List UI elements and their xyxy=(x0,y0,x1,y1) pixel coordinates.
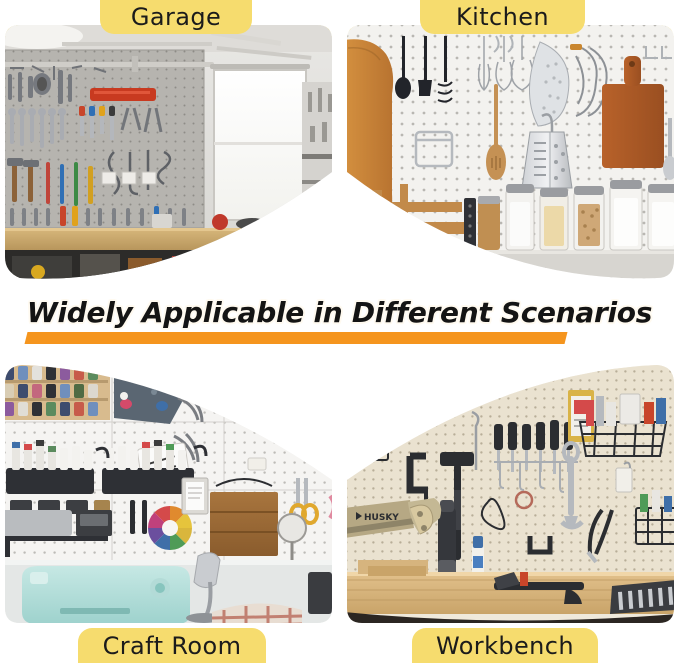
headline-underline-bar xyxy=(25,332,568,344)
badge-garage: Garage xyxy=(100,0,252,34)
badge-kitchen-label: Kitchen xyxy=(456,3,549,31)
workbench-frame xyxy=(344,360,677,628)
headline-text: Widely Applicable in Different Scenarios xyxy=(0,296,679,329)
craft-frame xyxy=(2,360,335,628)
badge-kitchen: Kitchen xyxy=(420,0,585,34)
panel-workbench: HUSKY xyxy=(344,360,677,628)
panel-kitchen xyxy=(344,22,677,284)
garage-frame xyxy=(2,22,335,284)
panel-craft xyxy=(2,360,335,628)
kitchen-frame xyxy=(344,22,677,284)
panel-garage xyxy=(2,22,335,284)
badge-garage-label: Garage xyxy=(131,3,221,31)
badge-craft-room: Craft Room xyxy=(78,628,266,663)
poster: Garage xyxy=(0,0,679,663)
badge-workbench-label: Workbench xyxy=(436,632,574,660)
badge-workbench: Workbench xyxy=(412,628,598,663)
headline-block: Widely Applicable in Different Scenarios xyxy=(0,296,679,352)
badge-craft-room-label: Craft Room xyxy=(103,632,242,660)
